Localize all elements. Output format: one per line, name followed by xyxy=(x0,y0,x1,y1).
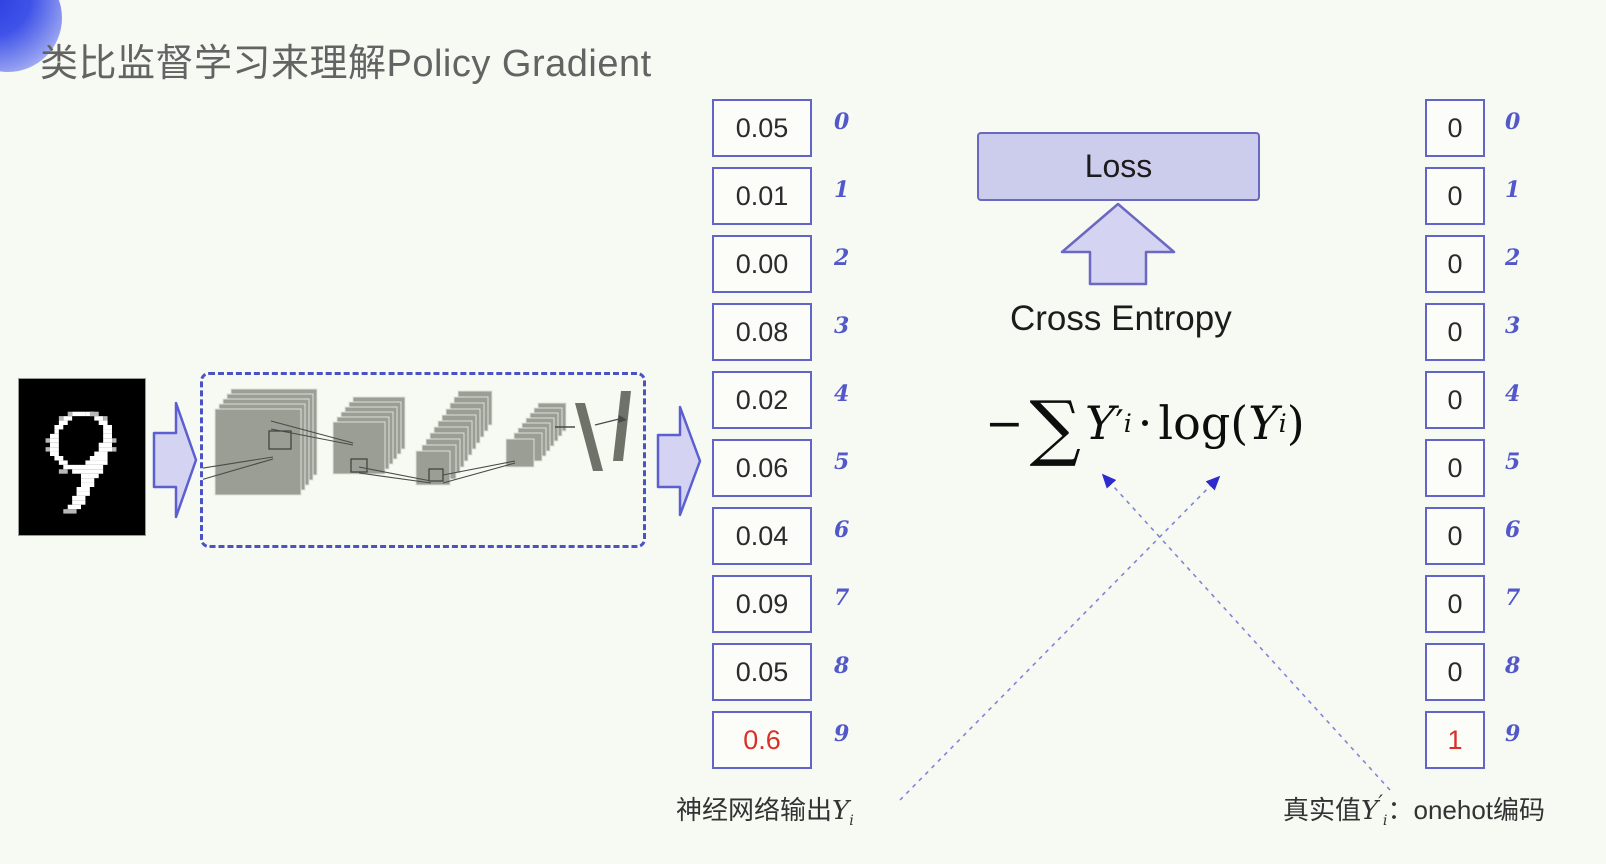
slide-canvas: 类比监督学习来理解Policy Gradient xyxy=(0,0,1606,864)
prediction-caption-symbol: Y xyxy=(832,796,849,826)
prediction-caption-sub: i xyxy=(849,813,854,829)
pointer-prediction-to-formula xyxy=(900,478,1218,800)
target-caption-suffix: ：onehot编码 xyxy=(1388,795,1546,825)
target-caption-prime: ′ xyxy=(1378,790,1383,814)
annotation-pointers xyxy=(0,0,1606,864)
target-caption: 真实值Y′i：onehot编码 xyxy=(1283,790,1545,829)
target-caption-symbol: Y xyxy=(1361,796,1378,826)
prediction-caption-text: 神经网络输出 xyxy=(676,795,832,825)
pointer-target-to-formula xyxy=(1104,476,1390,790)
prediction-caption: 神经网络输出Yi xyxy=(676,790,854,829)
target-caption-text: 真实值 xyxy=(1283,795,1361,825)
